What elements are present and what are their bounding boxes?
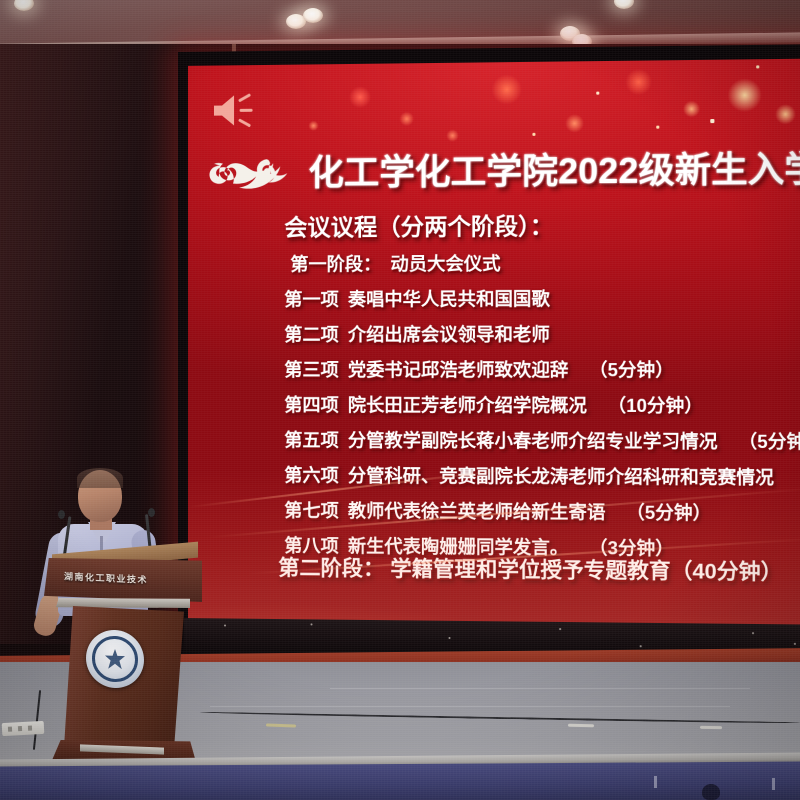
agenda-item-row: 第五项 分管教学副院长蒋小春老师介绍专业学习情况 （5分钟） — [284, 426, 800, 454]
agenda-item-text: 介绍出席会议领导和老师 — [348, 320, 550, 346]
floor-cable-sleeve — [700, 726, 722, 729]
agenda-item-duration: （5分钟） — [738, 428, 800, 455]
agenda-item-row: 第四项 院长田正芳老师介绍学院概况 （10分钟） — [284, 391, 800, 418]
bokeh-particle — [308, 121, 318, 131]
bokeh-particle — [446, 129, 458, 141]
bezel-speck — [310, 623, 312, 625]
agenda-item-row: 第七项 教师代表徐兰英老师给新生寄语 （5分钟） — [284, 497, 800, 527]
agenda-item-label: 第五项 — [284, 426, 338, 452]
agenda-item-row: 第三项 党委书记邱浩老师致欢迎辞 （5分钟） — [284, 356, 800, 383]
agenda-item-text: 分管教学副院长蒋小春老师介绍专业学习情况 — [348, 426, 718, 454]
microphone-head — [58, 510, 65, 519]
bokeh-particle — [727, 78, 763, 113]
agenda-item-label: 第六项 — [284, 461, 338, 487]
floor-scuff — [330, 688, 750, 689]
agenda-item-label: 第一项 — [284, 286, 338, 312]
agenda-item-text: 奏唱中华人民共和国国歌 — [348, 285, 550, 312]
bokeh-particle — [400, 112, 414, 126]
glitter-speck — [710, 119, 714, 123]
phase-one-label: 第一阶段： — [290, 250, 381, 277]
glitter-speck — [756, 65, 759, 68]
agenda-item-row: 第二项 介绍出席会议领导和老师 — [284, 320, 800, 347]
volume-speaker-icon — [210, 91, 256, 130]
bezel-speck — [559, 628, 561, 630]
downlight — [303, 8, 323, 23]
bokeh-particle — [491, 74, 522, 105]
bezel-speck — [794, 643, 796, 645]
stage-front-marking — [654, 776, 657, 788]
agenda-phase-one-row: 第一阶段： 动员大会仪式 — [284, 248, 800, 276]
agenda-item-row: 第一项 奏唱中华人民共和国国歌 — [284, 284, 800, 312]
agenda-heading: 会议议程（分两个阶段）： — [284, 207, 553, 243]
slide-title: 化工学化工学院2022级新生入学教 — [308, 140, 800, 196]
auspicious-cloud-ornament — [208, 149, 313, 190]
led-screen: 化工学化工学院2022级新生入学教 会议议程（分两个阶段）： 第一阶段： 动员大… — [188, 58, 800, 624]
agenda-item-text: 院长田正芳老师介绍学院概况 — [348, 391, 587, 418]
glitter-speck — [596, 92, 599, 95]
bezel-speck — [640, 645, 642, 647]
bokeh-particle — [349, 86, 371, 108]
agenda-item-text: 党委书记邱浩老师致欢迎辞 — [348, 356, 569, 382]
stage-front-face — [0, 762, 800, 800]
agenda-item-duration: （10分钟） — [608, 392, 703, 419]
bokeh-particle — [565, 114, 584, 132]
bokeh-particle — [683, 101, 700, 117]
bezel-speck — [224, 624, 226, 626]
phase-two-label: 第二阶段： — [278, 557, 384, 581]
agenda-item-text: 教师代表徐兰英老师给新生寄语 — [348, 497, 606, 525]
led-screen-bezel: 化工学化工学院2022级新生入学教 会议议程（分两个阶段）： 第一阶段： 动员大… — [178, 44, 800, 672]
glitter-speck — [532, 133, 535, 136]
stage-front-marking — [702, 784, 720, 800]
agenda-item-label: 第四项 — [284, 391, 338, 417]
microphone-head — [148, 508, 155, 517]
stage-front-marking — [772, 778, 775, 790]
agenda-item-duration: （5分钟） — [589, 356, 674, 383]
agenda-item-label: 第二项 — [284, 321, 338, 347]
phase-one-text: 动员大会仪式 — [390, 250, 500, 277]
agenda-phase-two-row: 第二阶段： 学籍管理和学位授予专题教育（40分钟） — [278, 552, 782, 587]
phase-two-text: 学籍管理和学位授予专题教育（40分钟） — [390, 558, 782, 585]
glitter-speck — [656, 126, 659, 129]
agenda-item-duration: （5分钟） — [795, 464, 800, 491]
agenda-item-label: 第七项 — [284, 497, 338, 523]
auditorium-scene: 化工学化工学院2022级新生入学教 会议议程（分两个阶段）： 第一阶段： 动员大… — [0, 0, 800, 800]
agenda-item-text: 分管科研、竞赛副院长龙涛老师介绍科研和竞赛情况 — [348, 462, 774, 490]
agenda-list: 第一阶段： 动员大会仪式 第一项 奏唱中华人民共和国国歌 第二项 介绍出席会议领… — [284, 248, 800, 571]
podium: 湖南化工职业技术 — [38, 548, 208, 770]
bezel-speck — [448, 637, 450, 639]
agenda-item-label: 第三项 — [284, 356, 338, 382]
bokeh-particle — [775, 104, 796, 125]
agenda-item-duration: （5分钟） — [626, 498, 711, 525]
agenda-item-row: 第六项 分管科研、竞赛副院长龙涛老师介绍科研和竞赛情况 （5分钟） — [284, 461, 800, 490]
floor-scuff — [210, 706, 730, 707]
bokeh-particle — [625, 69, 652, 96]
bezel-speck — [752, 632, 754, 634]
speaker-hair — [77, 468, 123, 488]
floor-cable-sleeve — [568, 724, 594, 727]
